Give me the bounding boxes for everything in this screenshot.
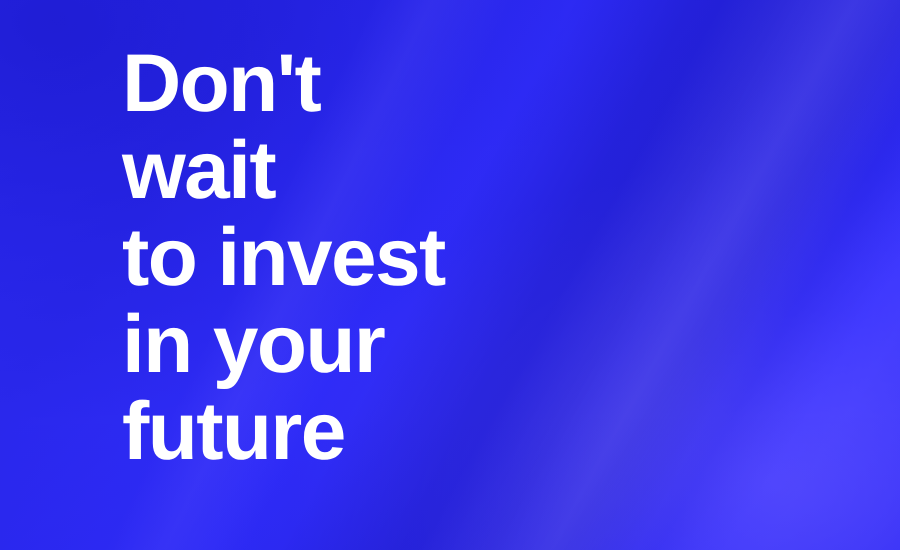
headline-line-1: Don't xyxy=(122,40,862,127)
headline-line-2: wait xyxy=(122,127,862,214)
headline: Don't wait to invest in your future xyxy=(122,40,862,475)
headline-line-3: to invest xyxy=(122,214,862,301)
promo-banner: Don't wait to invest in your future xyxy=(0,0,900,550)
headline-line-5: future xyxy=(122,388,862,475)
headline-line-4: in your xyxy=(122,301,862,388)
